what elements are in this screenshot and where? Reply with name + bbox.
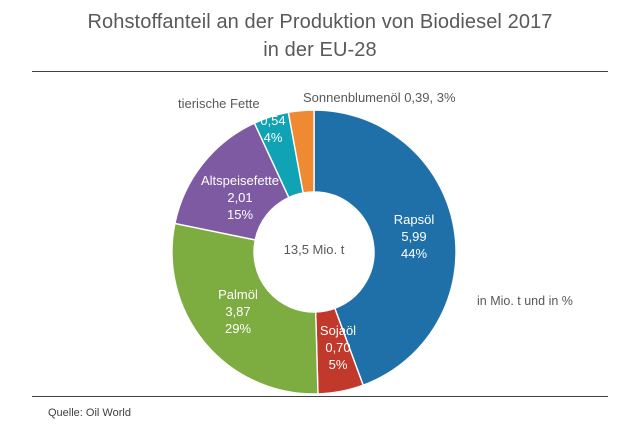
- donut-chart-svg: [0, 0, 640, 438]
- donut-slice-palmoel[interactable]: [172, 223, 318, 394]
- slice-label-sonnenblumenoel: Sonnenblumenöl 0,39, 3%: [303, 89, 456, 106]
- chart-card: Rohstoffanteil an der Produktion von Bio…: [0, 0, 640, 438]
- source-divider: [32, 396, 608, 397]
- slice-label-tierische-fette-name: tierische Fette: [178, 95, 260, 112]
- donut-chart: [0, 0, 640, 438]
- donut-slice-group: [172, 110, 456, 394]
- source-note: Quelle: Oil World: [48, 406, 131, 420]
- units-annotation: in Mio. t und in %: [477, 294, 573, 309]
